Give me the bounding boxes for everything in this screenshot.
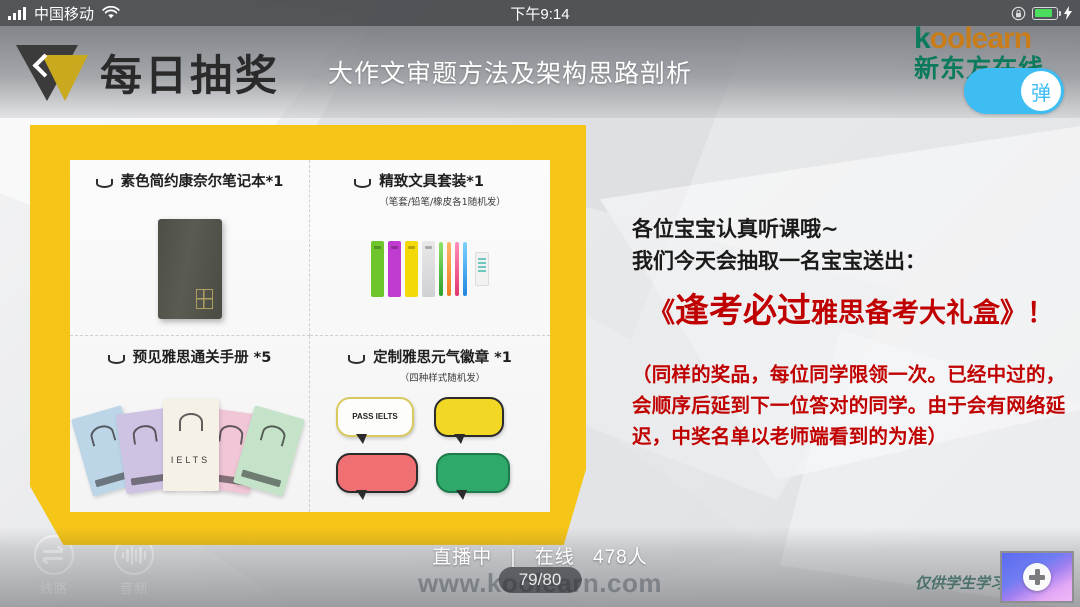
announcement-line-2: 我们今天会抽取一名宝宝送出： [632, 246, 1072, 278]
koolearn-logo-rest: oolearn [930, 22, 1031, 55]
pen-case-marble [422, 241, 435, 297]
pen-blue [463, 242, 467, 296]
pen-orange [447, 242, 451, 296]
prize-quote-open: 《 [648, 298, 675, 329]
pen-pink [455, 242, 459, 296]
gift-header: 定制雅思元气徽章 *1 （四种样式随机发） [318, 350, 542, 384]
stationery-set-photo [310, 206, 550, 331]
announcement-text-block: 各位宝宝认真听课哦~ 我们今天会抽取一名宝宝送出： 《逢考必过雅思备考大礼盒》！… [632, 214, 1072, 453]
audio-label: 音频 [114, 578, 154, 597]
eraser-graphic [475, 252, 489, 286]
announcement-line-1: 各位宝宝认真听课哦~ [632, 214, 1072, 246]
gift-item: 定制雅思元气徽章 *1 （四种样式随机发） PASS IELTS [310, 336, 550, 512]
expand-plus-icon[interactable] [1023, 563, 1051, 591]
rotation-lock-icon [1011, 6, 1026, 21]
battery-icon [1032, 7, 1058, 20]
ielts-handbooks-photo: IELTS [70, 382, 309, 508]
smile-arc-icon [354, 179, 371, 188]
gift-title: 预见雅思通关手册 *5 [133, 350, 272, 367]
ielts-badges-photo: PASS IELTS [310, 382, 550, 508]
gift-header: 预见雅思通关手册 *5 [78, 350, 301, 367]
status-bar: 中国移动 下午9:14 [0, 0, 1080, 26]
koolearn-logo-k: k [914, 22, 930, 55]
back-button[interactable] [16, 41, 94, 103]
notebook-photo [70, 206, 309, 331]
lesson-title: 大作文审题方法及架构思路剖析 [328, 54, 692, 90]
gift-header: 素色简约康奈尔笔记本*1 [78, 174, 301, 191]
gift-title: 精致文具套装*1 [379, 174, 505, 191]
gift-title: 定制雅思元气徽章 *1 [373, 350, 512, 367]
handbooks-graphic: IELTS [75, 399, 305, 491]
pen-green [439, 242, 443, 296]
gift-grid: 素色简约康奈尔笔记本*1 精致文具套装*1 （笔套/铅笔/橡皮各1随机发） [70, 160, 550, 512]
prize-rest: 雅思备考大礼盒》！ [811, 298, 1054, 329]
page-indicator: 79/80 [499, 567, 582, 593]
prize-highlight: 《逢考必过雅思备考大礼盒》！ [632, 289, 1072, 333]
pen-case-green [371, 241, 384, 297]
notebook-graphic [158, 219, 222, 319]
smile-arc-icon [348, 355, 365, 364]
prize-emphasis: 逢考必过 [675, 291, 811, 331]
video-thumbnail[interactable] [1000, 551, 1074, 603]
badge-yellow [434, 397, 504, 437]
pen-case-yellow [405, 241, 418, 297]
line-switch-label: 线路 [34, 578, 74, 597]
gift-header: 精致文具套装*1 （笔套/铅笔/橡皮各1随机发） [318, 174, 542, 208]
notebook-emblem-icon [196, 289, 213, 309]
status-bar-time: 下午9:14 [0, 3, 1080, 24]
badge-red [336, 453, 418, 493]
gift-item: 素色简约康奈尔笔记本*1 [70, 160, 310, 336]
badge-green [436, 453, 510, 493]
app-header: 每日抽奖 大作文审题方法及架构思路剖析 koolearn 新东方在线 弹 [0, 26, 1080, 118]
pen-case-magenta [388, 241, 401, 297]
stationery-graphic [371, 238, 489, 300]
smile-arc-icon [96, 179, 113, 188]
koolearn-logo-en: koolearn [914, 24, 1044, 54]
danmaku-toggle[interactable]: 弹 [964, 68, 1064, 114]
status-bar-right [1011, 6, 1072, 21]
badge-pass-ielts: PASS IELTS [336, 397, 414, 437]
prize-rules-note: （同样的奖品，每位同学限领一次。已经中过的，会顺序后延到下一位答对的同学。由于会… [632, 359, 1072, 453]
charging-bolt-icon [1064, 6, 1072, 20]
gift-item: 预见雅思通关手册 *5 IELTS [70, 336, 310, 512]
danmaku-toggle-knob: 弹 [1021, 71, 1061, 111]
handbook-center-label: IELTS [163, 455, 219, 465]
gift-item: 精致文具套装*1 （笔套/铅笔/橡皮各1随机发） [310, 160, 550, 336]
smile-arc-icon [108, 355, 125, 364]
gift-title: 素色简约康奈尔笔记本*1 [121, 174, 284, 191]
handbook-center: IELTS [163, 399, 219, 491]
brand-title: 每日抽奖 [100, 42, 280, 103]
badges-graphic: PASS IELTS [330, 395, 530, 495]
